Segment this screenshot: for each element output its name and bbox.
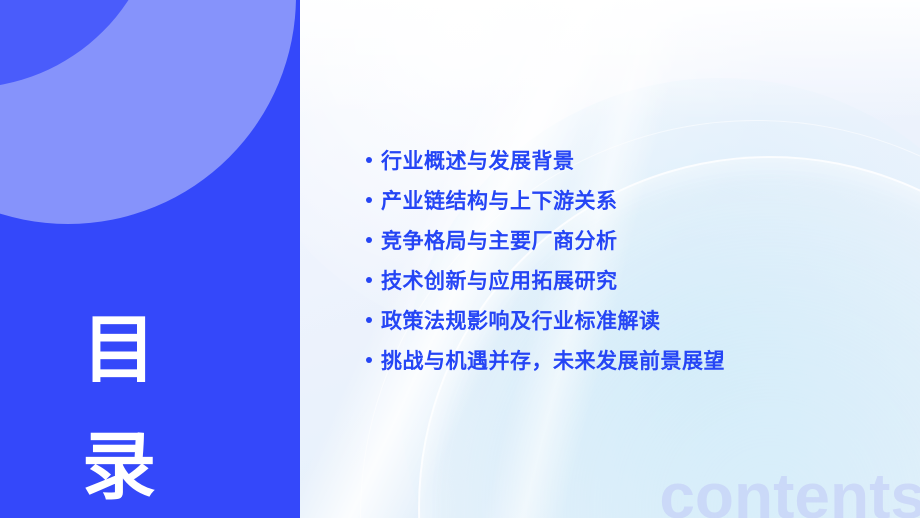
bullet-dot-icon: [366, 197, 372, 203]
toc-item-label: 挑战与机遇并存，未来发展前景展望: [381, 345, 725, 375]
bullet-dot-icon: [366, 237, 372, 243]
toc-item-label: 技术创新与应用拓展研究: [381, 265, 618, 295]
bullet-dot-icon: [366, 357, 372, 363]
toc-item-label: 行业概述与发展背景: [381, 145, 575, 175]
toc-item-5[interactable]: 政策法规影响及行业标准解读: [366, 300, 725, 340]
toc-item-4[interactable]: 技术创新与应用拓展研究: [366, 260, 725, 300]
bullet-dot-icon: [366, 277, 372, 283]
toc-list: 行业概述与发展背景 产业链结构与上下游关系 竞争格局与主要厂商分析 技术创新与应…: [366, 140, 725, 380]
toc-item-label: 产业链结构与上下游关系: [381, 185, 618, 215]
toc-item-1[interactable]: 行业概述与发展背景: [366, 140, 725, 180]
page-title: 目 录: [0, 292, 240, 518]
page-title-line-1: 目: [0, 292, 240, 409]
toc-item-2[interactable]: 产业链结构与上下游关系: [366, 180, 725, 220]
toc-item-label: 竞争格局与主要厂商分析: [381, 225, 618, 255]
bullet-dot-icon: [366, 157, 372, 163]
slide-canvas: contents 目 录 行业概述与发展背景 产业链结构与上下游关系 竞争格局与…: [0, 0, 920, 518]
toc-item-6[interactable]: 挑战与机遇并存，未来发展前景展望: [366, 340, 725, 380]
toc-item-3[interactable]: 竞争格局与主要厂商分析: [366, 220, 725, 260]
decorative-top-haze: [300, 0, 920, 120]
toc-item-label: 政策法规影响及行业标准解读: [381, 305, 661, 335]
left-blue-panel: 目 录: [0, 0, 300, 518]
bullet-dot-icon: [366, 317, 372, 323]
contents-watermark: contents: [659, 464, 920, 518]
page-title-line-2: 录: [0, 409, 240, 518]
